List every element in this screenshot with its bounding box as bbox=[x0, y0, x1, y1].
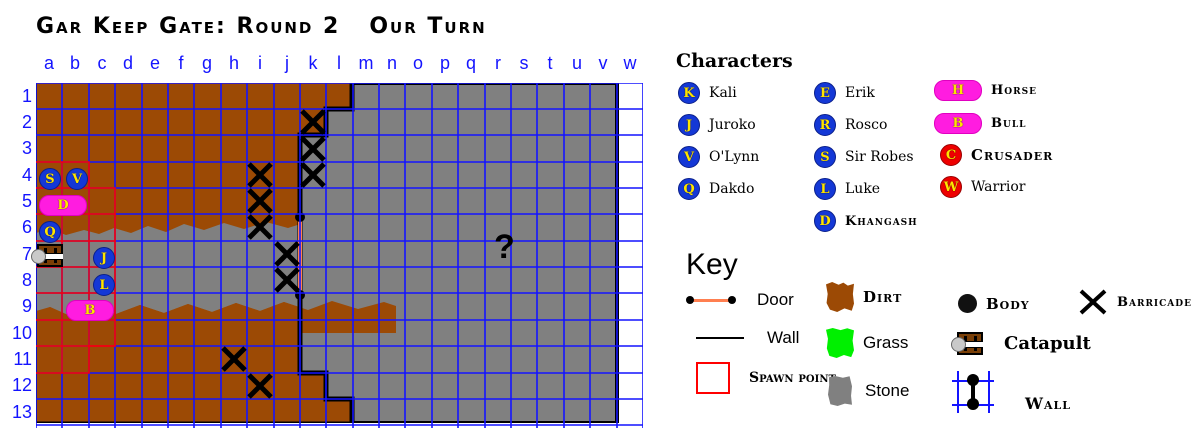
col-header-w: w bbox=[617, 53, 643, 74]
token-luke[interactable]: L bbox=[93, 274, 115, 296]
character-name-rosco: Rosco bbox=[845, 117, 887, 133]
char-token-j: J bbox=[678, 114, 700, 136]
wall-line-icon bbox=[696, 337, 744, 339]
character-name-erik: Erik bbox=[845, 85, 875, 101]
character-name-luke: Luke bbox=[845, 181, 880, 197]
row-header-1: 1 bbox=[8, 86, 32, 107]
col-header-i: i bbox=[247, 53, 273, 74]
character-entry-khangash[interactable]: D Khangash bbox=[814, 210, 918, 232]
key-label-barricade: Barricade bbox=[1117, 295, 1192, 310]
character-entry-erik[interactable]: E Erik bbox=[814, 82, 875, 104]
character-entry-bull[interactable]: B Bull bbox=[934, 113, 1027, 134]
stone-swatch-icon bbox=[828, 376, 852, 406]
char-token-e: E bbox=[814, 82, 836, 104]
char-token-l: L bbox=[814, 178, 836, 200]
character-entry-rosco[interactable]: R Rosco bbox=[814, 114, 887, 136]
wall-grid-node-bottom bbox=[967, 398, 979, 410]
col-header-t: t bbox=[537, 53, 563, 74]
col-header-r: r bbox=[485, 53, 511, 74]
key-entry-dirt: Dirt bbox=[826, 282, 902, 312]
char-token-h: H bbox=[934, 80, 982, 101]
char-token-k: K bbox=[678, 82, 700, 104]
door-line bbox=[690, 299, 732, 302]
char-token-s: S bbox=[814, 146, 836, 168]
col-header-p: p bbox=[432, 53, 458, 74]
key-label-wall-grid: Wall bbox=[1025, 394, 1071, 413]
wall-grid-node-top bbox=[967, 374, 979, 386]
key-entry-stone: Stone bbox=[828, 376, 909, 406]
door-endpoint-left bbox=[686, 296, 694, 304]
key-panel: Key Door Wall Spawn point Dirt Grass bbox=[686, 248, 1191, 282]
char-token-w: W bbox=[940, 176, 962, 198]
row-header-6: 6 bbox=[8, 217, 32, 238]
spawn-point-icon bbox=[696, 362, 730, 394]
row-header-11: 11 bbox=[8, 349, 32, 370]
row-header-8: 8 bbox=[8, 270, 32, 291]
col-header-o: o bbox=[405, 53, 431, 74]
catapult-projectile bbox=[951, 337, 966, 352]
key-entry-wall-line: Wall bbox=[696, 328, 799, 348]
row-header-5: 5 bbox=[8, 191, 32, 212]
wall-grid-vline-2 bbox=[988, 371, 990, 413]
battle-map-grid[interactable]: a b c d e f g h i j k l m n o p q r s t … bbox=[36, 83, 68, 106]
key-label-door: Door bbox=[757, 290, 794, 310]
col-header-v: v bbox=[590, 53, 616, 74]
key-heading: Key bbox=[686, 248, 1191, 282]
key-entry-catapult: Catapult bbox=[951, 332, 1091, 355]
character-name-juroko: Juroko bbox=[709, 117, 756, 133]
col-header-q: q bbox=[458, 53, 484, 74]
token-bull-b[interactable]: B bbox=[66, 300, 114, 321]
col-header-l: l bbox=[326, 53, 352, 74]
key-entry-barricade: Barricade bbox=[1078, 288, 1192, 316]
character-name-khangash: Khangash bbox=[845, 214, 918, 229]
char-token-b: B bbox=[934, 113, 982, 134]
grass-swatch-icon bbox=[826, 328, 854, 358]
body-icon bbox=[958, 294, 977, 313]
col-header-k: k bbox=[300, 53, 326, 74]
page-title: Gar Keep Gate: Round 2 Our Turn bbox=[36, 14, 487, 39]
token-horse-d[interactable]: D bbox=[39, 195, 87, 216]
token-dakdo[interactable]: Q bbox=[39, 221, 61, 243]
col-header-h: h bbox=[221, 53, 247, 74]
row-header-10: 10 bbox=[8, 323, 32, 344]
characters-heading: Characters bbox=[676, 50, 1186, 72]
col-header-f: f bbox=[168, 53, 194, 74]
key-entry-door: Door bbox=[686, 290, 794, 310]
key-entry-wall-grid: Wall bbox=[952, 370, 1071, 413]
character-name-kali: Kali bbox=[709, 85, 737, 101]
col-header-c: c bbox=[89, 53, 115, 74]
character-entry-warrior[interactable]: W Warrior bbox=[940, 176, 1026, 198]
token-juroko[interactable]: J bbox=[93, 247, 115, 269]
character-entry-crusader[interactable]: C Crusader bbox=[940, 144, 1053, 166]
character-name-bull: Bull bbox=[991, 116, 1027, 131]
char-token-c: C bbox=[940, 144, 962, 166]
key-entry-body: Body bbox=[958, 294, 1030, 313]
characters-panel: Characters K Kali J Juroko V O'Lynn Q Da… bbox=[676, 50, 1186, 72]
barricade-icons bbox=[223, 111, 324, 397]
wall-grid-icon bbox=[952, 371, 994, 413]
char-token-v: V bbox=[678, 146, 700, 168]
char-token-q: Q bbox=[678, 178, 700, 200]
char-token-d: D bbox=[814, 210, 836, 232]
catapult-projectile bbox=[31, 249, 46, 264]
row-header-4: 4 bbox=[8, 165, 32, 186]
row-header-13: 13 bbox=[8, 402, 32, 423]
door-endpoint-right bbox=[728, 296, 736, 304]
key-label-stone: Stone bbox=[865, 381, 909, 401]
row-header-9: 9 bbox=[8, 296, 32, 317]
door-icon bbox=[686, 294, 736, 306]
key-label-catapult: Catapult bbox=[1004, 333, 1091, 354]
col-header-b: b bbox=[62, 53, 88, 74]
character-entry-sir-robes[interactable]: S Sir Robes bbox=[814, 146, 914, 168]
character-entry-kali[interactable]: K Kali bbox=[678, 82, 737, 104]
unknown-marker: ? bbox=[494, 228, 515, 267]
character-entry-luke[interactable]: L Luke bbox=[814, 178, 880, 200]
col-header-g: g bbox=[194, 53, 220, 74]
character-entry-olynn[interactable]: V O'Lynn bbox=[678, 146, 759, 168]
game-map-page: Gar Keep Gate: Round 2 Our Turn bbox=[0, 0, 1197, 418]
character-name-sir-robes: Sir Robes bbox=[845, 149, 914, 165]
key-entry-spawn-point: Spawn point bbox=[696, 362, 811, 394]
col-header-s: s bbox=[511, 53, 537, 74]
character-entry-dakdo[interactable]: Q Dakdo bbox=[678, 178, 754, 200]
character-name-crusader: Crusader bbox=[971, 146, 1053, 164]
row-header-12: 12 bbox=[8, 375, 32, 396]
key-label-spawn-point: Spawn point bbox=[749, 370, 811, 386]
character-name-warrior: Warrior bbox=[971, 179, 1026, 195]
wall-grid-vline-1 bbox=[957, 371, 959, 413]
key-label-dirt: Dirt bbox=[863, 288, 902, 306]
col-header-a: a bbox=[36, 53, 62, 74]
col-header-j: j bbox=[274, 53, 300, 74]
catapult-icon bbox=[951, 332, 983, 355]
character-name-olynn: O'Lynn bbox=[709, 149, 759, 165]
overlay-layer bbox=[36, 83, 643, 428]
col-header-u: u bbox=[564, 53, 590, 74]
row-header-3: 3 bbox=[8, 138, 32, 159]
col-header-e: e bbox=[142, 53, 168, 74]
dirt-swatch-icon bbox=[826, 282, 854, 312]
barricade-icon bbox=[1078, 288, 1108, 316]
key-label-body: Body bbox=[986, 295, 1030, 313]
col-header-m: m bbox=[353, 53, 379, 74]
catapult-icon[interactable] bbox=[31, 244, 63, 267]
character-name-dakdo: Dakdo bbox=[709, 181, 754, 197]
character-entry-horse[interactable]: H Horse bbox=[934, 80, 1037, 101]
token-olynn[interactable]: V bbox=[66, 168, 88, 190]
key-label-grass: Grass bbox=[863, 333, 908, 353]
col-header-n: n bbox=[379, 53, 405, 74]
row-header-2: 2 bbox=[8, 112, 32, 133]
char-token-r: R bbox=[814, 114, 836, 136]
token-sir-robes[interactable]: S bbox=[39, 168, 61, 190]
character-entry-juroko[interactable]: J Juroko bbox=[678, 114, 756, 136]
row-header-7: 7 bbox=[8, 244, 32, 265]
key-entry-grass: Grass bbox=[826, 328, 908, 358]
key-label-wall: Wall bbox=[767, 328, 799, 348]
character-name-horse: Horse bbox=[991, 83, 1037, 98]
col-header-d: d bbox=[115, 53, 141, 74]
